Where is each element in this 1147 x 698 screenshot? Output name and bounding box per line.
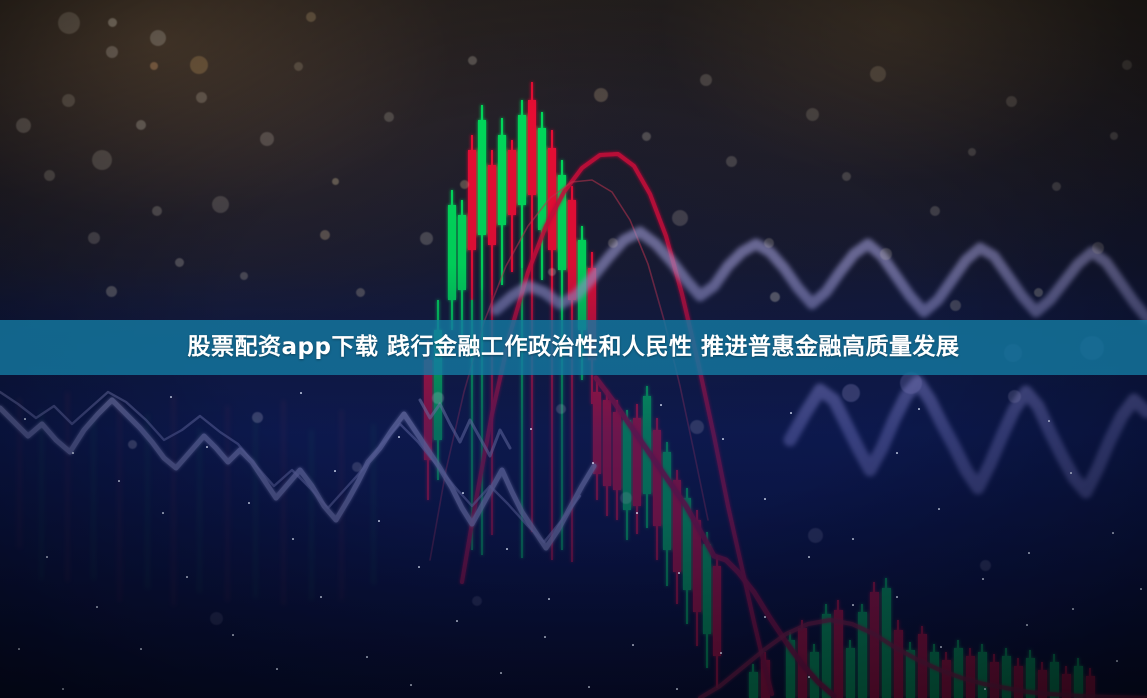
red-trend-line-descending	[596, 378, 834, 696]
lavender-wave-left-echo	[0, 392, 580, 542]
candlesticks-descending-cluster	[593, 382, 721, 688]
title-banner: 股票配资app下载 践行金融工作政治性和人民性 推进普惠金融高质量发展	[0, 320, 1147, 375]
red-trend-line	[462, 154, 772, 694]
faint-candle-streaks	[18, 392, 375, 606]
lavender-wave-right-thick	[496, 232, 1147, 318]
candlesticks-upper-cluster	[424, 82, 596, 500]
lavender-wave-right-lower	[790, 382, 1147, 492]
lavender-wave-left	[0, 400, 594, 548]
candle-wicks-long	[471, 262, 573, 562]
promo-image-canvas: 股票配资app下载 践行金融工作政治性和人民性 推进普惠金融高质量发展	[0, 0, 1147, 698]
red-trend-line-bottom	[700, 620, 1147, 698]
lavender-wave-small-left	[420, 400, 510, 456]
banner-title-text: 股票配资app下载 践行金融工作政治性和人民性 推进普惠金融高质量发展	[188, 336, 960, 359]
candlesticks-bottom-right	[749, 578, 1095, 698]
